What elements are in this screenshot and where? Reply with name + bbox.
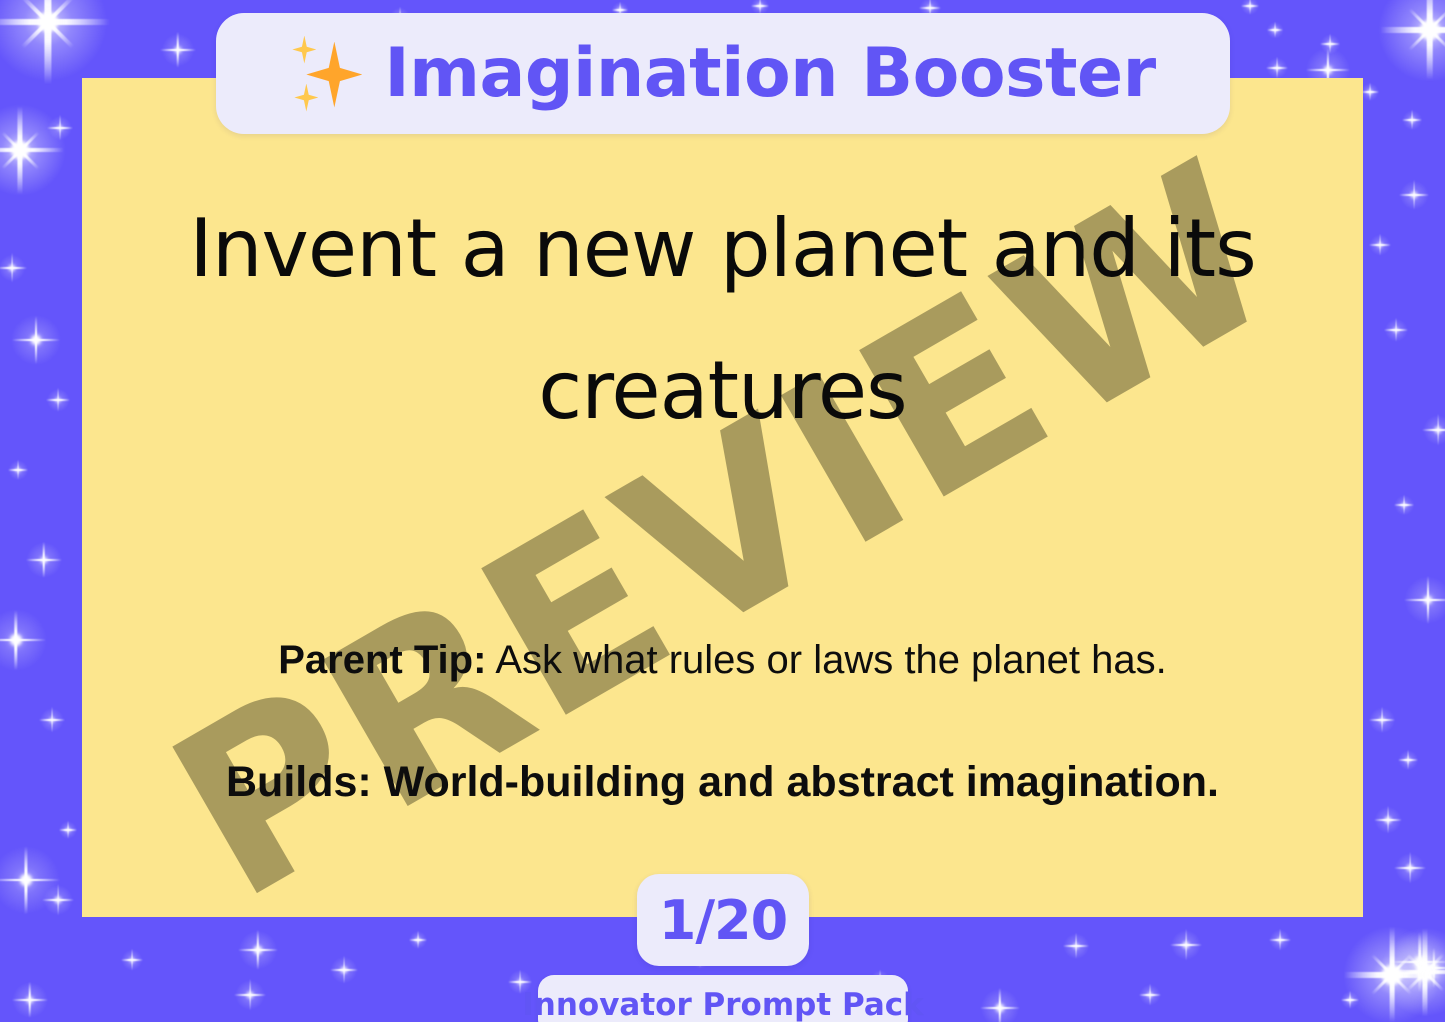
page-indicator-label: 1/20 — [659, 889, 787, 952]
prompt-card — [82, 78, 1363, 917]
four-point-star — [292, 36, 316, 64]
prompt-card-page: PREVIEW Invent a new planet and its crea… — [0, 0, 1445, 1022]
four-point-star — [294, 84, 318, 112]
header-title: Imagination Booster — [384, 34, 1155, 113]
pack-name-label: Innovator Prompt Pack — [522, 987, 924, 1022]
pack-name-badge: Innovator Prompt Pack — [538, 975, 908, 1022]
header-badge: Imagination Booster — [216, 13, 1230, 134]
sparkles-icon — [290, 35, 362, 113]
page-indicator-badge: 1/20 — [637, 874, 809, 966]
